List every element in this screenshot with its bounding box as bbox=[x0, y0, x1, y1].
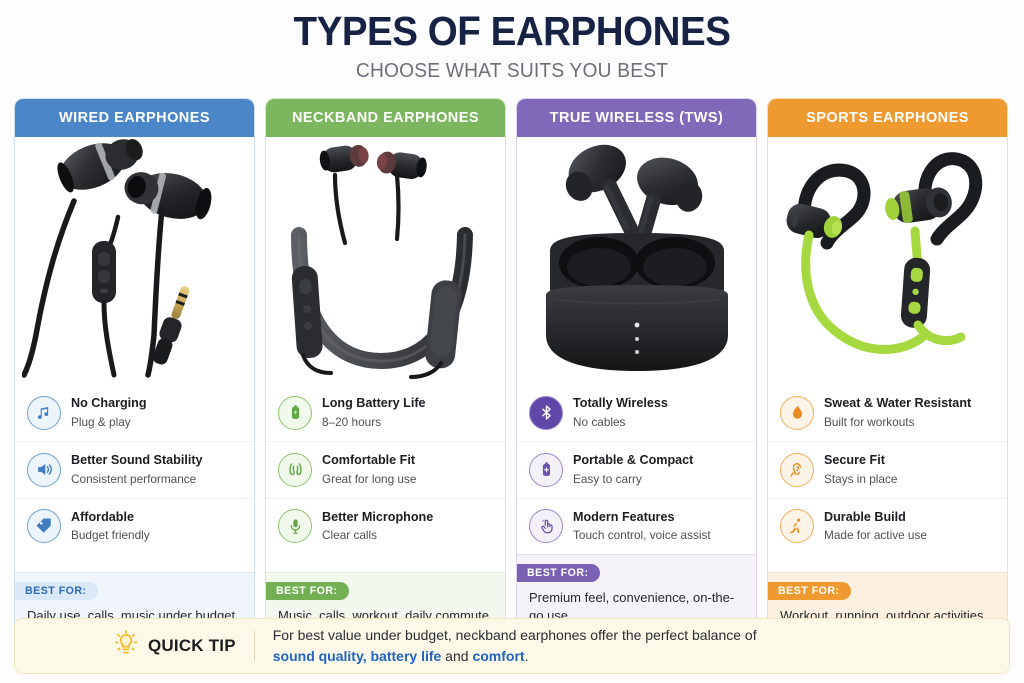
ear-icon bbox=[780, 453, 814, 487]
card-header-wired: WIRED EARPHONES bbox=[15, 99, 254, 137]
quick-tip-label: QUICK TIP bbox=[148, 636, 236, 656]
features-wired: No Charging Plug & play Better Sound Sta… bbox=[15, 381, 254, 554]
feature-item[interactable]: Affordable Budget friendly bbox=[15, 498, 254, 555]
card-neckband-earphones[interactable]: NECKBAND EARPHONES bbox=[265, 98, 506, 636]
quick-tip-middle: and bbox=[441, 648, 472, 664]
sports-earhook-earphones-photo bbox=[768, 137, 1007, 381]
features-sports: Sweat & Water Resistant Built for workou… bbox=[768, 381, 1007, 554]
feature-item[interactable]: Secure Fit Stays in place bbox=[768, 441, 1007, 498]
infographic-page: TYPES OF EARPHONES CHOOSE WHAT SUITS YOU… bbox=[0, 0, 1024, 683]
cards-grid: WIRED EARPHONES bbox=[14, 98, 1010, 636]
feature-subtitle: Made for active use bbox=[824, 528, 927, 542]
battery-icon bbox=[278, 396, 312, 430]
quick-tip-label-group: QUICK TIP bbox=[33, 630, 236, 663]
feature-title: Affordable bbox=[71, 510, 134, 524]
feature-title: Better Sound Stability bbox=[71, 453, 203, 467]
card-wired-earphones[interactable]: WIRED EARPHONES bbox=[14, 98, 255, 636]
card-header-neckband: NECKBAND EARPHONES bbox=[266, 99, 505, 137]
feature-subtitle: Built for workouts bbox=[824, 415, 914, 429]
feature-item[interactable]: Sweat & Water Resistant Built for workou… bbox=[768, 385, 1007, 441]
feature-subtitle: Consistent performance bbox=[71, 472, 196, 486]
feature-title: Portable & Compact bbox=[573, 453, 693, 467]
touch-gesture-icon bbox=[529, 509, 563, 543]
card-header-tws: TRUE WIRELESS (TWS) bbox=[517, 99, 756, 137]
header: TYPES OF EARPHONES CHOOSE WHAT SUITS YOU… bbox=[0, 0, 1024, 83]
feature-subtitle: Clear calls bbox=[322, 528, 377, 542]
feature-title: No Charging bbox=[71, 396, 147, 410]
feature-title: Comfortable Fit bbox=[322, 453, 415, 467]
divider bbox=[254, 631, 255, 661]
page-subtitle: CHOOSE WHAT SUITS YOU BEST bbox=[20, 60, 1003, 83]
feature-title: Totally Wireless bbox=[573, 396, 668, 410]
card-sports-earphones[interactable]: SPORTS EARPHONES bbox=[767, 98, 1008, 636]
page-title: TYPES OF EARPHONES bbox=[31, 10, 994, 53]
feature-item[interactable]: Better Sound Stability Consistent perfor… bbox=[15, 441, 254, 498]
battery-icon bbox=[529, 453, 563, 487]
card-header-sports: SPORTS EARPHONES bbox=[768, 99, 1007, 137]
feature-title: Sweat & Water Resistant bbox=[824, 396, 971, 410]
tws-earbuds-case-photo bbox=[517, 137, 756, 381]
feature-item[interactable]: Modern Features Touch control, voice ass… bbox=[517, 498, 756, 555]
feature-item[interactable]: Portable & Compact Easy to carry bbox=[517, 441, 756, 498]
microphone-icon bbox=[278, 509, 312, 543]
feature-subtitle: Easy to carry bbox=[573, 472, 642, 486]
quick-tip-bar: QUICK TIP For best value under budget, n… bbox=[14, 618, 1010, 674]
feature-subtitle: Great for long use bbox=[322, 472, 416, 486]
price-tag-icon bbox=[27, 509, 61, 543]
feature-subtitle: No cables bbox=[573, 415, 625, 429]
bluetooth-icon bbox=[529, 396, 563, 430]
feature-subtitle: Budget friendly bbox=[71, 528, 150, 542]
wired-earphones-photo bbox=[15, 137, 254, 381]
feature-subtitle: Stays in place bbox=[824, 472, 897, 486]
running-person-icon bbox=[780, 509, 814, 543]
best-for-badge: BEST FOR: bbox=[768, 582, 851, 600]
feature-title: Durable Build bbox=[824, 510, 906, 524]
best-for-badge: BEST FOR: bbox=[517, 564, 600, 582]
best-for-badge: BEST FOR: bbox=[266, 582, 349, 600]
quick-tip-text: For best value under budget, neckband ea… bbox=[273, 625, 757, 667]
feature-title: Secure Fit bbox=[824, 453, 885, 467]
feature-title: Long Battery Life bbox=[322, 396, 426, 410]
feature-subtitle: Plug & play bbox=[71, 415, 131, 429]
features-neckband: Long Battery Life 8–20 hours Comfortable… bbox=[266, 381, 505, 554]
feature-subtitle: Touch control, voice assist bbox=[573, 528, 711, 542]
feature-item[interactable]: Better Microphone Clear calls bbox=[266, 498, 505, 555]
features-tws: Totally Wireless No cables Portable & Co… bbox=[517, 381, 756, 554]
comfortable-fit-icon bbox=[278, 453, 312, 487]
quick-tip-highlight-2: comfort bbox=[472, 648, 524, 664]
feature-item[interactable]: Totally Wireless No cables bbox=[517, 385, 756, 441]
feature-item[interactable]: Durable Build Made for active use bbox=[768, 498, 1007, 555]
neckband-earphones-photo bbox=[266, 137, 505, 381]
feature-title: Better Microphone bbox=[322, 510, 433, 524]
feature-title: Modern Features bbox=[573, 510, 674, 524]
quick-tip-line1: For best value under budget, neckband ea… bbox=[273, 627, 757, 643]
quick-tip-highlight-1: sound quality, battery life bbox=[273, 648, 442, 664]
card-true-wireless[interactable]: TRUE WIRELESS (TWS) bbox=[516, 98, 757, 636]
feature-item[interactable]: Comfortable Fit Great for long use bbox=[266, 441, 505, 498]
feature-item[interactable]: No Charging Plug & play bbox=[15, 385, 254, 441]
lightbulb-icon bbox=[113, 630, 139, 663]
best-for-badge: BEST FOR: bbox=[15, 582, 98, 600]
feature-subtitle: 8–20 hours bbox=[322, 415, 381, 429]
quick-tip-end: . bbox=[525, 648, 529, 664]
speaker-volume-icon bbox=[27, 453, 61, 487]
feature-item[interactable]: Long Battery Life 8–20 hours bbox=[266, 385, 505, 441]
water-drop-icon bbox=[780, 396, 814, 430]
music-note-icon bbox=[27, 396, 61, 430]
